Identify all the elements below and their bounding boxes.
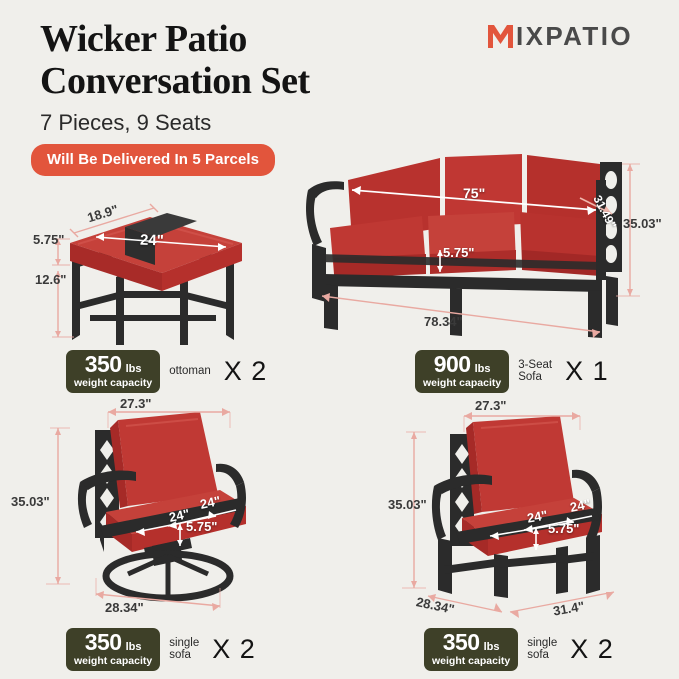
dining-dim-top-width: 27.3" (475, 398, 506, 413)
ottoman-dim-cushion: 5.75" (33, 232, 64, 247)
brand-logo: IXPATIO (487, 21, 633, 52)
swivel-base-ring (106, 554, 230, 598)
ottoman-capacity-label: weight capacity (74, 378, 152, 389)
dining-dim-cushion: 5.75" (548, 521, 579, 536)
ottoman-product-name: ottoman (169, 365, 211, 377)
sofa-dim-cushion: 5.75" (443, 245, 474, 260)
swivel-capacity-label: weight capacity (74, 656, 152, 667)
ottoman-dim-height: 12.6" (35, 272, 66, 287)
ottoman-spec-row: 350 lbs weight capacity ottoman X 2 (66, 350, 267, 393)
swivel-dim-height: 35.03" (11, 494, 50, 509)
sofa-capacity-value: 900 (434, 353, 471, 376)
sofa-quantity: X 1 (565, 356, 609, 387)
dining-product-name: single sofa (527, 637, 557, 661)
swivel-dim-top-width: 27.3" (120, 396, 151, 411)
dining-capacity-label: weight capacity (432, 656, 510, 667)
sofa-dim-height: 35.03" (623, 216, 662, 231)
sofa-capacity-label: weight capacity (423, 378, 501, 389)
dining-capacity-unit: lbs (484, 642, 500, 653)
ottoman-capacity-unit: lbs (126, 364, 142, 375)
ottoman-capacity-badge: 350 lbs weight capacity (66, 350, 160, 393)
logo-wordmark: IXPATIO (516, 21, 633, 52)
sofa-spec-row: 900 lbs weight capacity 3-Seat Sofa X 1 (415, 350, 609, 393)
sofa-dim-seat-width: 75" (463, 185, 485, 201)
logo-m-icon (487, 23, 514, 50)
page-subtitle: 7 Pieces, 9 Seats (40, 110, 211, 136)
ottoman-dim-width: 24" (140, 232, 164, 250)
swivel-chair-spec-row: 350 lbs weight capacity single sofa X 2 (66, 628, 256, 671)
ottoman-capacity-value: 350 (85, 353, 122, 376)
dining-quantity: X 2 (570, 634, 614, 665)
infographic-canvas: Wicker Patio Conversation Set 7 Pieces, … (0, 0, 679, 679)
swivel-dim-base-width: 28.34" (105, 600, 144, 615)
ottoman-quantity: X 2 (224, 356, 268, 387)
sofa-product-name: 3-Seat Sofa (518, 359, 552, 383)
sofa-illustration (300, 150, 670, 350)
dining-chair-spec-row: 350 lbs weight capacity single sofa X 2 (424, 628, 614, 671)
sofa-capacity-badge: 900 lbs weight capacity (415, 350, 509, 393)
sofa-dim-width: 78.34" (424, 314, 463, 329)
dining-capacity-value: 350 (443, 631, 480, 654)
ottoman-illustration (30, 195, 280, 345)
dining-dim-height: 35.03" (388, 497, 427, 512)
swivel-quantity: X 2 (212, 634, 256, 665)
swivel-product-name: single sofa (169, 637, 199, 661)
page-title: Wicker Patio Conversation Set (40, 18, 310, 102)
swivel-dim-cushion: 5.75" (186, 519, 217, 534)
swivel-capacity-badge: 350 lbs weight capacity (66, 628, 160, 671)
swivel-capacity-unit: lbs (126, 642, 142, 653)
delivery-banner: Will Be Delivered In 5 Parcels (31, 144, 275, 176)
swivel-capacity-value: 350 (85, 631, 122, 654)
sofa-capacity-unit: lbs (475, 364, 491, 375)
dining-capacity-badge: 350 lbs weight capacity (424, 628, 518, 671)
